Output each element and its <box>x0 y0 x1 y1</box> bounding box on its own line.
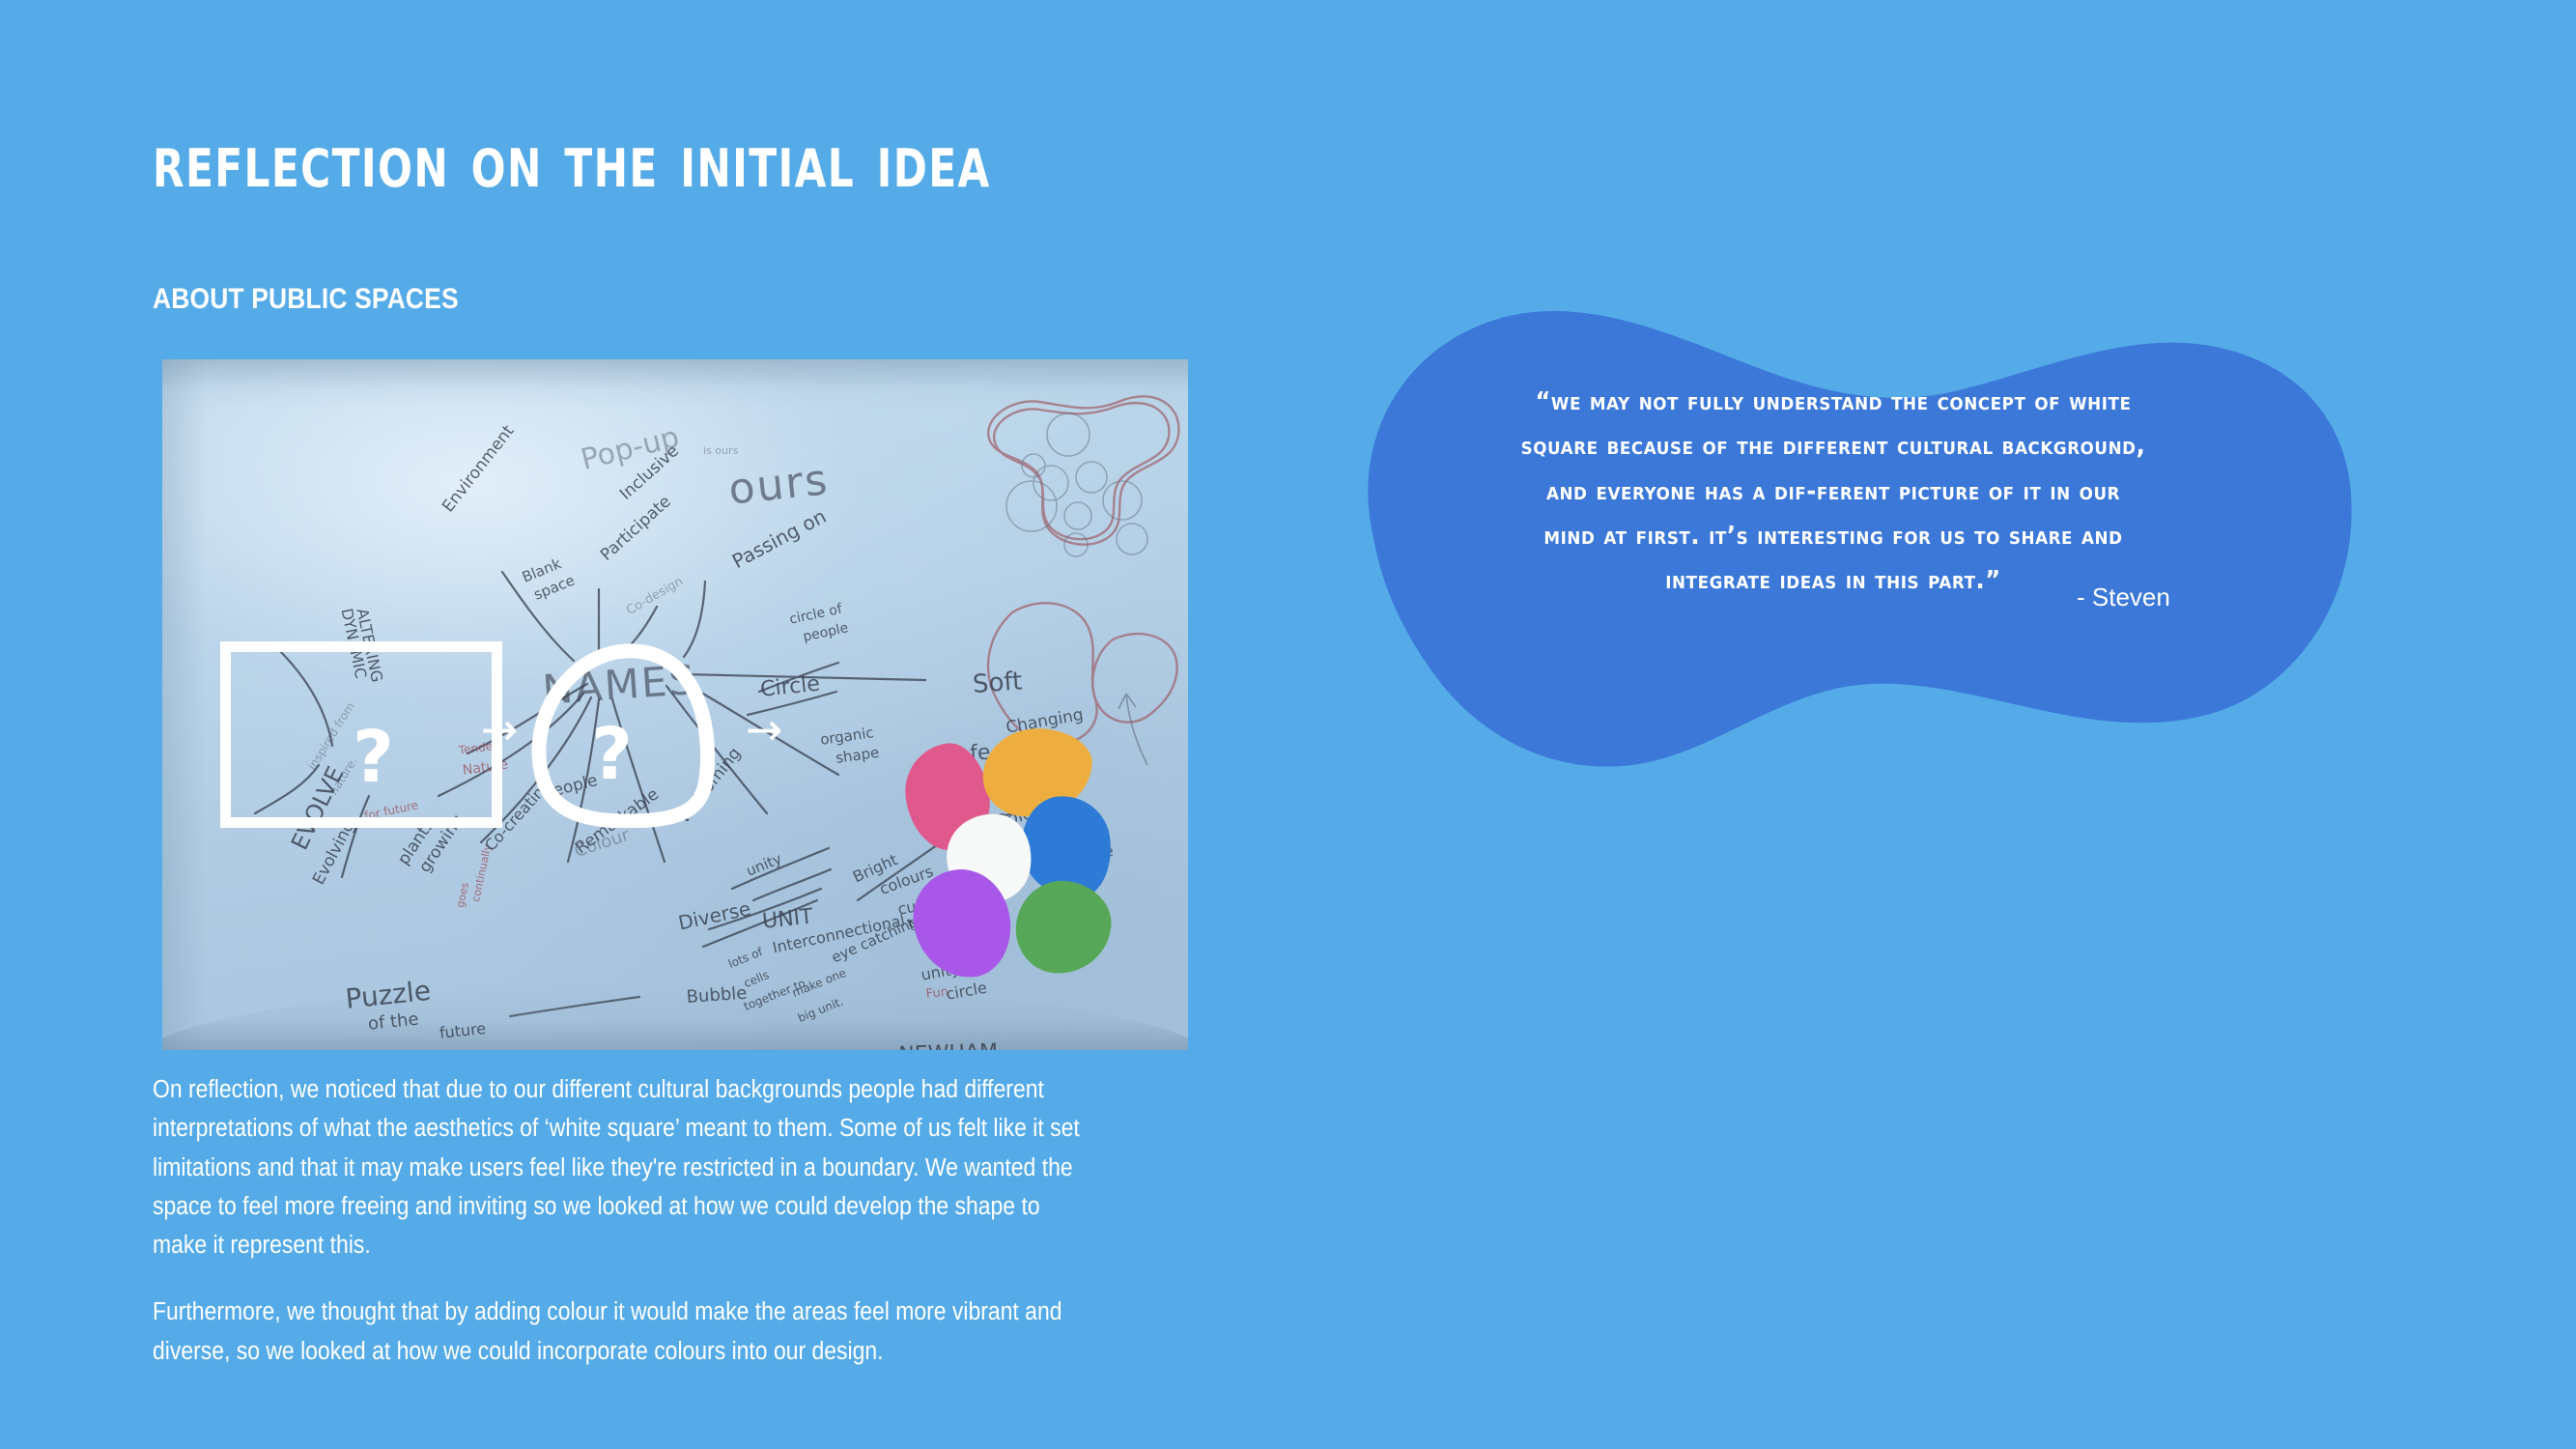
quote-attribution: - Steven <box>2077 582 2170 612</box>
page-title: Reflection on the initial idea <box>153 124 991 199</box>
arrow-icon-2: → <box>746 707 783 752</box>
body-paragraph: On reflection, we noticed that due to ou… <box>153 1070 1088 1264</box>
section-subtitle: ABOUT PUBLIC SPACES <box>153 283 459 316</box>
whiteboard-photo: EnvironmentBlankspacePop-upInclusivePart… <box>162 359 1188 1050</box>
quote-text: “We may not fully understand the concept… <box>1519 380 2148 603</box>
arrow-icon-1: → <box>481 707 519 752</box>
question-mark-square: ? <box>353 722 394 793</box>
body-copy: On reflection, we noticed that due to ou… <box>153 1070 1088 1371</box>
body-paragraph: Furthermore, we thought that by adding c… <box>153 1293 1088 1371</box>
question-mark-blob: ? <box>591 719 633 790</box>
quote-callout: “We may not fully understand the concept… <box>1333 275 2386 768</box>
